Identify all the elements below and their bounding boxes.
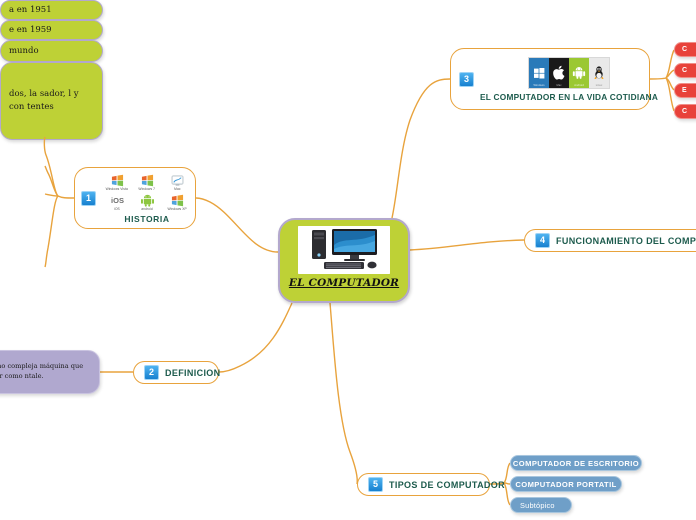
leaf-text: Subtópico (520, 501, 555, 510)
tile-caption: Linux (596, 84, 603, 87)
central-node[interactable]: EL COMPUTADOR (278, 218, 410, 303)
leaf-text: COMPUTADOR PORTATIL (515, 480, 616, 489)
leaf-computador-escritorio[interactable]: COMPUTADOR DE ESCRITORIO (510, 455, 642, 471)
leaf-vida-4[interactable]: C (674, 104, 696, 119)
tile-caption: Mac (556, 84, 561, 87)
icon-caption: iOS (114, 207, 120, 211)
leaf-vida-1[interactable]: C (674, 42, 696, 57)
icon-caption: Windows 7 (139, 187, 156, 191)
windows-vista-icon: Windows Vista (104, 173, 130, 192)
leaf-text: a en 1951 (9, 4, 52, 16)
badge-4: 4 (535, 233, 550, 248)
badge-3: 3 (459, 72, 474, 87)
leaf-computador-portatil[interactable]: COMPUTADOR PORTATIL (510, 476, 622, 492)
leaf-definicion-text[interactable]: generalmente como compleja máquina que m… (0, 350, 100, 394)
leaf-historia-paragraph[interactable]: dos, la sador, l y con tentes (0, 62, 103, 140)
windows-xp-icon: Windows XP (164, 193, 190, 212)
topic-vida-cotidiana[interactable]: 3 Windows (450, 48, 650, 110)
topic-funcionamiento-label: FUNCIONAMIENTO DEL COMPUTADOR (556, 236, 696, 246)
mac-icon: Mac (164, 173, 190, 192)
topic-historia-label: HISTORIA (124, 214, 169, 224)
leaf-text: generalmente como compleja máquina que m… (0, 362, 91, 381)
central-title: EL COMPUTADOR (289, 277, 399, 289)
tile-caption: Windows (533, 84, 544, 87)
leaf-text: COMPUTADOR DE ESCRITORIO (513, 459, 639, 468)
badge-1: 1 (81, 191, 96, 206)
leaf-subtopico[interactable]: Subtópico (510, 497, 572, 513)
topic-historia[interactable]: 1 Windows Vista (74, 167, 196, 229)
topic-definicion-label: DEFINICION (165, 368, 221, 378)
android-tile: Android (569, 58, 589, 88)
linux-tile: Linux (589, 58, 609, 88)
topic-tipos-label: TIPOS DE COMPUTADOR (389, 480, 505, 490)
historia-os-icons: Windows Vista Windows 7 (102, 173, 192, 213)
windows-tile: Windows (529, 58, 549, 88)
svg-text:iOS: iOS (111, 196, 124, 205)
os-tiles: Windows Mac (528, 57, 610, 89)
leaf-vida-2[interactable]: C (674, 63, 696, 78)
topic-funcionamiento[interactable]: 4 FUNCIONAMIENTO DEL COMPUTADOR (524, 229, 696, 252)
tile-caption: Android (574, 84, 584, 87)
apple-tile: Mac (549, 58, 569, 88)
icon-caption: Mac (174, 187, 180, 191)
leaf-text: C (682, 67, 687, 74)
topic-tipos[interactable]: 5 TIPOS DE COMPUTADOR (357, 473, 490, 496)
badge-2: 2 (144, 365, 159, 380)
desktop-computer-photo (298, 226, 390, 274)
leaf-text: dos, la sador, l y con tentes (9, 88, 94, 115)
mindmap-canvas: EL COMPUTADOR 1 Windows Vista (0, 0, 696, 520)
leaf-text: e en 1959 (9, 24, 52, 36)
leaf-historia-1951[interactable]: a en 1951 (0, 0, 103, 20)
leaf-text: C (682, 108, 687, 115)
icon-caption: android (141, 207, 152, 211)
leaf-vida-3[interactable]: E (674, 83, 696, 98)
leaf-text: E (682, 87, 687, 94)
ios-icon: iOS iOS (104, 193, 130, 212)
badge-5: 5 (368, 477, 383, 492)
topic-vida-label: EL COMPUTADOR EN LA VIDA COTIDIANA (480, 92, 658, 102)
android-icon: android (134, 193, 160, 212)
topic-definicion[interactable]: 2 DEFINICION (133, 361, 219, 384)
leaf-historia-1959[interactable]: e en 1959 (0, 20, 103, 40)
windows-7-icon: Windows 7 (134, 173, 160, 192)
icon-caption: Windows XP (167, 207, 186, 211)
icon-caption: Windows Vista (106, 187, 128, 191)
leaf-text: mundo (9, 45, 39, 57)
leaf-text: C (682, 46, 687, 53)
leaf-historia-mundo[interactable]: mundo (0, 40, 103, 62)
